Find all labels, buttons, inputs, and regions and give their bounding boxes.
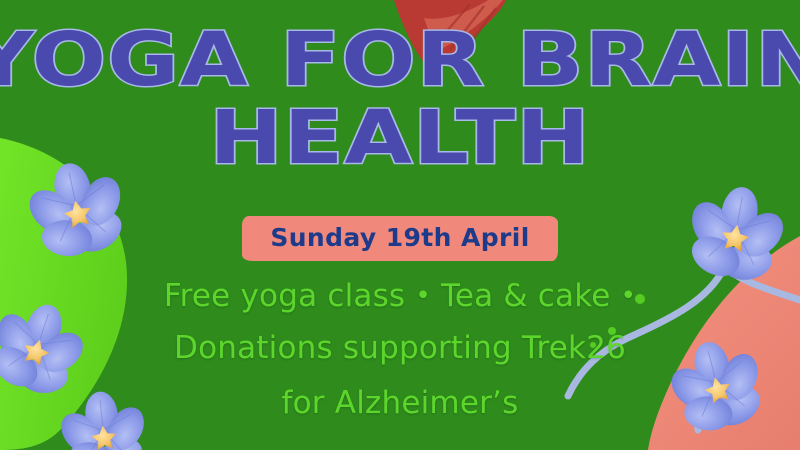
date-badge: Sunday 19th April <box>242 216 557 261</box>
body-offer-yoga: Free yoga class <box>164 278 405 314</box>
body-offer-tea: Tea & cake <box>441 278 611 314</box>
bullet-separator-icon: • <box>621 281 637 311</box>
body-line-1: Free yoga class • Tea & cake • <box>0 278 800 314</box>
body-line-3: for Alzheimer’s <box>0 385 800 421</box>
date-badge-container: Sunday 19th April <box>0 216 800 261</box>
headline-line-1: YOGA FOR BRAIN <box>0 26 800 94</box>
bullet-separator-icon: • <box>415 281 431 311</box>
poster-canvas: YOGA FOR BRAIN HEALTH Sunday 19th April … <box>0 0 800 450</box>
body-line-2: Donations supporting Trek26 <box>0 330 800 366</box>
headline-line-2: HEALTH <box>0 104 800 172</box>
